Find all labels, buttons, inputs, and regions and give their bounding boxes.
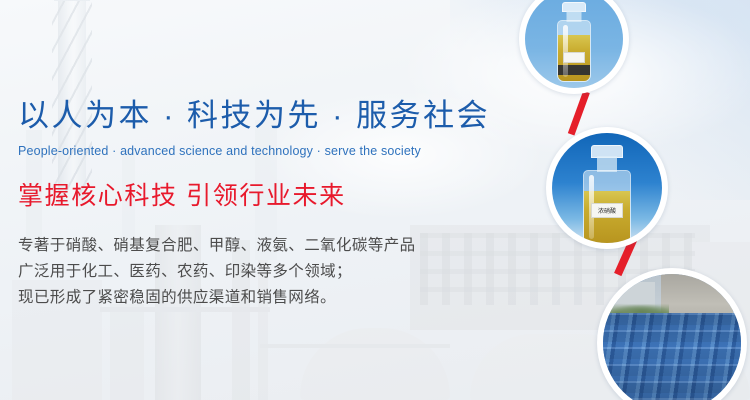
bottle-graphic-1	[551, 2, 597, 82]
headline-english: People-oriented · advanced science and t…	[18, 144, 518, 158]
body-line-2: 广泛用于化工、医药、农药、印染等多个领域；	[18, 259, 518, 285]
banner-text-block: 以人为本 · 科技为先 · 服务社会 People-oriented · adv…	[18, 98, 518, 311]
product-image-1	[525, 0, 623, 88]
headline-chinese: 以人为本 · 科技为先 · 服务社会	[18, 98, 518, 135]
product-image-2: 浓硝酸	[552, 133, 662, 243]
promo-banner: 以人为本 · 科技为先 · 服务社会 People-oriented · adv…	[0, 0, 750, 400]
body-line-1: 专著于硝酸、硝基复合肥、甲醇、液氨、二氧化碳等产品	[18, 233, 518, 259]
headline-slogan-red: 掌握核心科技 引领行业未来	[18, 181, 518, 211]
bottle-label-1	[563, 52, 585, 63]
body-paragraph: 专著于硝酸、硝基复合肥、甲醇、液氨、二氧化碳等产品 广泛用于化工、医药、农药、印…	[18, 233, 518, 311]
drums-photo	[603, 274, 741, 400]
product-circle-concentrated-nitric-acid[interactable]: 浓硝酸	[546, 127, 668, 249]
body-line-3: 现已形成了紧密稳固的供应渠道和销售网络。	[18, 285, 518, 311]
product-image-3	[603, 274, 741, 400]
product-circle-chemical-drums[interactable]	[597, 268, 747, 400]
bottle-label-2: 浓硝酸	[591, 203, 623, 218]
bottle-graphic-2: 浓硝酸	[577, 145, 637, 241]
